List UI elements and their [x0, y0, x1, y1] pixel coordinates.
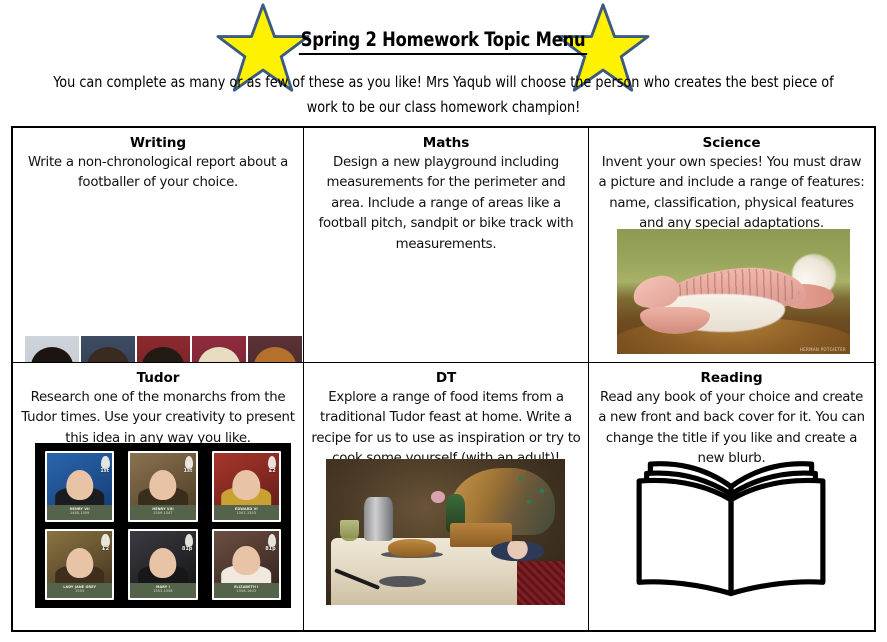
stamp-henry-vii: 1st HENRY VII 1485-1509 — [45, 451, 114, 522]
page-header: Spring 2 Homework Topic Menu You can com… — [0, 0, 887, 122]
stamp-elizabeth-i: 81p ELIZABETH I 1558-1603 — [212, 529, 281, 600]
homework-topic-menu-page: Spring 2 Homework Topic Menu You can com… — [0, 0, 887, 642]
task-cell-science[interactable]: Science Invent your own species! You mus… — [589, 128, 874, 363]
stamp-henry-viii: 1st HENRY VIII 1509-1547 — [128, 451, 197, 522]
task-cell-dt[interactable]: DT Explore a range of food items from a … — [304, 363, 589, 630]
homework-task-table: Writing Write a non-chronological report… — [11, 126, 876, 632]
stamp-edward-vi: £2 EDWARD VI 1547-1553 — [212, 451, 281, 522]
stamp-dates: 1558-1603 — [214, 589, 279, 593]
task-body-science: Invent your own species! You must draw a… — [596, 153, 867, 235]
task-cell-tudor[interactable]: Tudor Research one of the monarchs from … — [13, 363, 304, 630]
footballers-photo-strip — [25, 336, 302, 363]
stamp-label: EDWARD VI 1547-1553 — [214, 505, 279, 520]
stamp-label: HENRY VII 1485-1509 — [47, 505, 112, 520]
task-heading-dt: DT — [311, 369, 581, 388]
open-book-line-drawing-icon — [625, 451, 837, 601]
pink-fairy-armadillo-photo: HERMAN POTGIETER — [617, 229, 850, 354]
task-heading-science: Science — [596, 134, 867, 153]
task-cell-reading[interactable]: Reading Read any book of your choice and… — [589, 363, 874, 630]
stamp-label: HENRY VIII 1509-1547 — [130, 505, 195, 520]
stamp-dates: 1547-1553 — [214, 511, 279, 515]
photo-watermark: HERMAN POTGIETER — [800, 347, 846, 352]
stamp-dates: 1485-1509 — [47, 511, 112, 515]
task-body-writing: Write a non-chronological report about a… — [20, 153, 296, 194]
footballer-portrait-2 — [81, 336, 135, 363]
intro-paragraph: You can complete as many or as few of th… — [51, 70, 836, 120]
task-cell-writing[interactable]: Writing Write a non-chronological report… — [13, 128, 304, 363]
tudor-monarch-stamps: 1st HENRY VII 1485-1509 1st — [35, 443, 291, 608]
footballer-portrait-1 — [25, 336, 79, 363]
stamp-value: 1st — [184, 468, 193, 474]
stamp-value: 1st — [100, 468, 109, 474]
task-heading-tudor: Tudor — [20, 369, 296, 388]
footballer-portrait-3 — [137, 336, 191, 363]
stamp-value: £2 — [102, 546, 109, 552]
footballer-portrait-5 — [248, 336, 302, 363]
stamp-value: £2 — [269, 468, 276, 474]
stamp-label: LADY JANE GREY 1553 — [47, 583, 112, 598]
task-heading-maths: Maths — [311, 134, 581, 153]
stamp-mary-i: 81p MARY I 1553-1558 — [128, 529, 197, 600]
footballer-portrait-4 — [192, 336, 246, 363]
task-cell-maths[interactable]: Maths Design a new playground including … — [304, 128, 589, 363]
stamp-lady-jane-grey: £2 LADY JANE GREY 1553 — [45, 529, 114, 600]
task-body-maths: Design a new playground including measur… — [311, 153, 581, 255]
task-heading-writing: Writing — [20, 134, 296, 153]
task-body-dt: Explore a range of food items from a tra… — [311, 388, 581, 470]
stamp-label: MARY I 1553-1558 — [130, 583, 195, 598]
stamp-label: ELIZABETH I 1558-1603 — [214, 583, 279, 598]
stamp-dates: 1553-1558 — [130, 589, 195, 593]
page-title: Spring 2 Homework Topic Menu — [299, 28, 587, 55]
task-body-tudor: Research one of the monarchs from the Tu… — [20, 388, 296, 449]
tudor-feast-still-life-painting — [326, 459, 565, 605]
stamp-value: 81p — [265, 546, 276, 552]
task-heading-reading: Reading — [596, 369, 867, 388]
stamp-dates: 1509-1547 — [130, 511, 195, 515]
page-title-wrapper: Spring 2 Homework Topic Menu — [0, 28, 887, 55]
stamp-value: 81p — [182, 546, 193, 552]
stamp-dates: 1553 — [47, 589, 112, 593]
